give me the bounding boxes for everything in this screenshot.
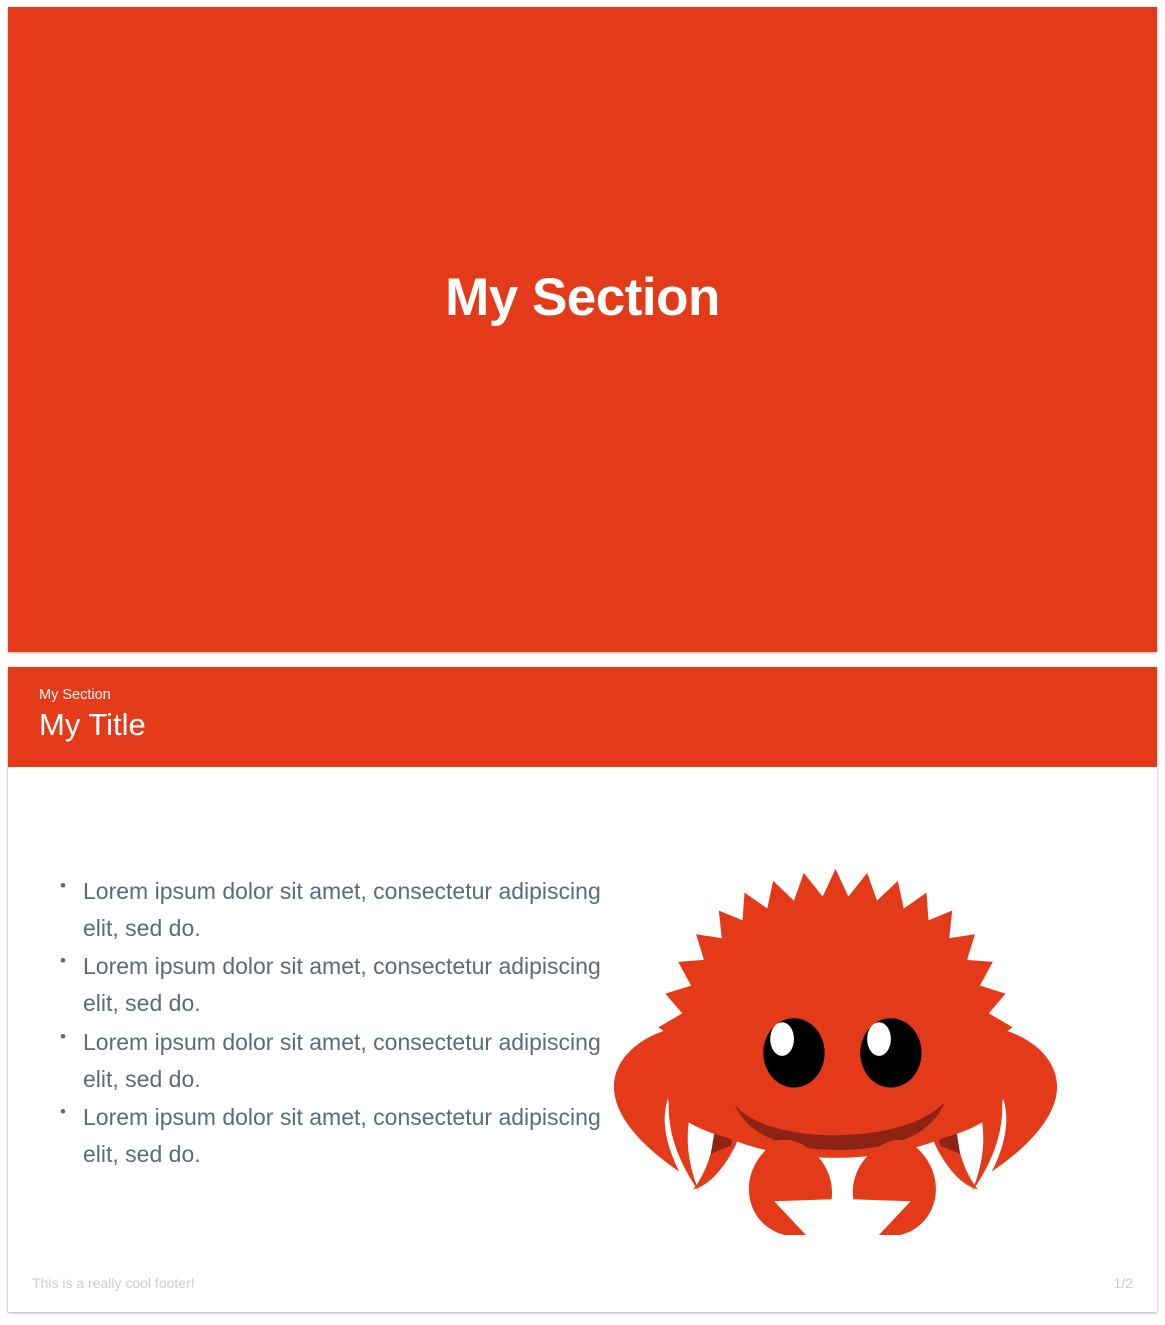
- slide-deck: My Section My Section My Title Lorem ips…: [0, 0, 1165, 1325]
- slide-header-band: My Section My Title: [8, 667, 1157, 767]
- slide-body: Lorem ipsum dolor sit amet, consectetur …: [8, 767, 1157, 1264]
- slide-eyebrow-section-label: My Section: [39, 687, 1157, 704]
- page-number: 1/2: [1114, 1275, 1133, 1291]
- footer-text: This is a really cool footer!: [32, 1275, 195, 1291]
- slide-footer: This is a really cool footer! 1/2: [8, 1264, 1157, 1312]
- section-title: My Section: [445, 271, 720, 324]
- slide-gap: [8, 652, 1157, 667]
- bullet-list: Lorem ipsum dolor sit amet, consectetur …: [8, 873, 608, 1175]
- slide-title: My Title: [39, 706, 1157, 745]
- ferris-crab-mascot-image: [608, 855, 1063, 1235]
- slide-content[interactable]: My Section My Title Lorem ipsum dolor si…: [8, 667, 1157, 1312]
- list-item: Lorem ipsum dolor sit amet, consectetur …: [54, 873, 608, 948]
- list-item: Lorem ipsum dolor sit amet, consectetur …: [54, 948, 608, 1023]
- slide-section-divider[interactable]: My Section: [8, 7, 1157, 652]
- list-item: Lorem ipsum dolor sit amet, consectetur …: [54, 1024, 608, 1099]
- list-item: Lorem ipsum dolor sit amet, consectetur …: [54, 1099, 608, 1174]
